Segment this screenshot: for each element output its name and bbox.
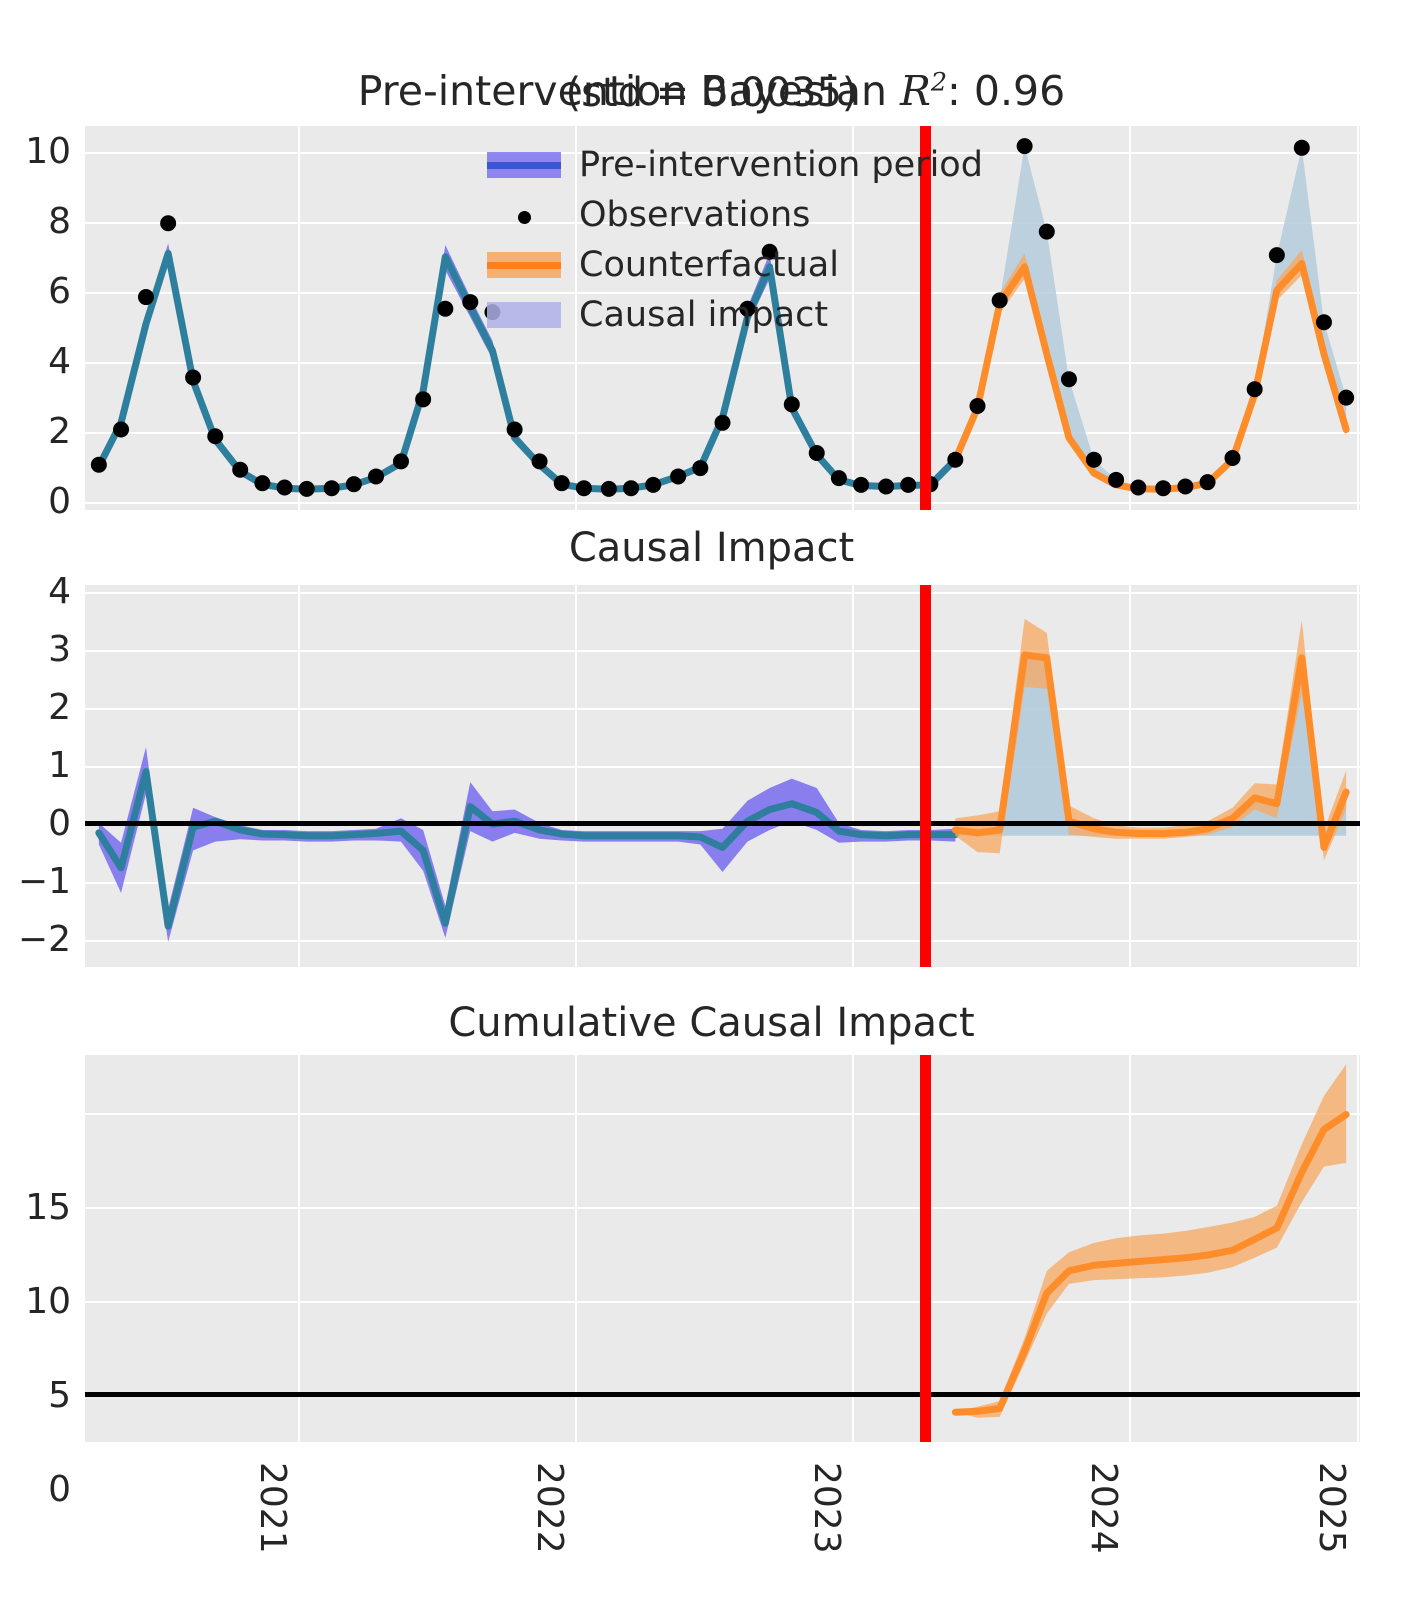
legend-band-icon [487,240,561,290]
legend-label: Counterfactual [579,245,839,285]
ytick-label: 0 [48,806,71,842]
legend-band-icon [487,290,561,340]
ytick-label: 5 [48,1378,71,1414]
ytick-label: 10 [25,1284,71,1320]
xtick-label-2024: 2024 [1085,1462,1121,1554]
ytick-label: −2 [18,922,71,958]
ytick-label: 1 [48,748,71,784]
ytick-label: 0 [48,484,71,520]
ytick-label: 0 [48,1472,71,1508]
intervention-line [920,585,931,967]
legend-label: Pre-intervention period [579,145,983,185]
legend-item-counterfactual[interactable]: Counterfactual [487,240,983,290]
causal-impact-figure: Pre-intervention Bayesian R2: 0.96 (std … [0,0,1423,1623]
zero-line [85,1392,1360,1397]
xtick-label-2023: 2023 [808,1462,844,1554]
ytick-label: 4 [48,344,71,380]
zero-line [85,821,1360,826]
legend: Pre-intervention period Observations Cou… [487,140,983,340]
ytick-label: 4 [48,574,71,610]
panel2-title: Causal Impact [0,525,1423,571]
panel-cumulative-causal-impact [85,1055,1360,1442]
xtick-label-2021: 2021 [254,1462,290,1554]
ytick-label: 6 [48,274,71,310]
legend-item-observations[interactable]: Observations [487,190,983,240]
legend-label: Observations [579,195,810,235]
legend-label: Causal impact [579,295,828,335]
xtick-label-2022: 2022 [531,1462,567,1554]
panel-causal-impact [85,585,1360,967]
ytick-label: 10 [25,134,71,170]
figure-subtitle: (std = 0.0035) [0,70,1423,116]
xtick-label-2025: 2025 [1313,1462,1349,1554]
ytick-label: 15 [25,1190,71,1226]
legend-band-icon [487,140,561,190]
ytick-label: 3 [48,632,71,668]
ytick-label: 8 [48,204,71,240]
panel2-plot [85,585,1360,967]
panel3-plot [85,1055,1360,1442]
legend-dot-icon [487,190,561,240]
legend-item-causal-impact[interactable]: Causal impact [487,290,983,340]
ytick-label: 2 [48,690,71,726]
panel3-title: Cumulative Causal Impact [0,1000,1423,1046]
legend-item-pre-intervention[interactable]: Pre-intervention period [487,140,983,190]
ytick-label: 2 [48,414,71,450]
ytick-label: −1 [18,864,71,900]
intervention-line [920,1055,931,1442]
